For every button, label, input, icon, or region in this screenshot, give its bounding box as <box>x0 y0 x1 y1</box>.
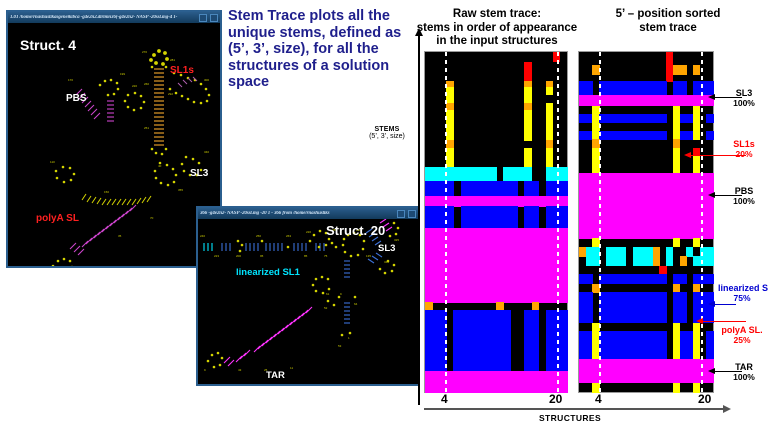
heatmap-cell <box>586 301 593 323</box>
svg-text:251: 251 <box>144 126 149 130</box>
annotation-arrowhead-sl3 <box>708 94 715 100</box>
window-titlebar[interactable]: 1.01 /home/rnashustikasgeneikibca -g4e2n… <box>8 12 220 23</box>
heatmap-cell <box>680 65 687 75</box>
structure-label-sl3: SL3 <box>190 168 208 179</box>
annotation-polya-sl-name: polyA SL. <box>718 325 766 335</box>
structure-marker-4-raw <box>445 52 447 392</box>
svg-text:110: 110 <box>50 160 55 164</box>
annotation-sl3-name: SL3 <box>722 88 766 98</box>
heatmap-cell <box>524 167 532 181</box>
svg-text:170: 170 <box>68 78 73 82</box>
svg-text:220: 220 <box>306 230 311 234</box>
heatmap-cell <box>666 256 673 266</box>
structure-label-sl1s: SL1s <box>170 65 194 76</box>
heatmap-cell <box>560 181 568 197</box>
svg-text:40: 40 <box>158 164 162 168</box>
xtick-raw-20: 20 <box>549 392 562 406</box>
structure-label-sl3-20: SL3 <box>378 243 395 254</box>
heatmap-cell <box>673 238 680 247</box>
svg-text:53: 53 <box>338 344 342 348</box>
svg-text:43: 43 <box>238 368 242 372</box>
annotation-sl1s: SL1s 20% <box>722 139 766 159</box>
svg-text:9: 9 <box>340 292 342 296</box>
structure-label-tar-20: TAR <box>266 370 285 381</box>
annotation-arrowhead-sl1s <box>684 152 691 158</box>
structure-marker-4-sorted <box>599 52 601 392</box>
heatmap-cell <box>524 131 532 140</box>
annotation-tar: TAR 100% <box>722 362 766 382</box>
structures-axis-line <box>424 408 724 410</box>
annotation-arrowhead-pbs <box>708 192 715 198</box>
heatmap-cell <box>560 310 568 331</box>
heatmap-cell <box>706 131 713 140</box>
heatmap-cell <box>510 181 518 197</box>
svg-text:325: 325 <box>394 238 399 242</box>
rna-structure-window-struct20[interactable]: 366 -g4e2n2- NASP -20ssl.mg -20 1 - 366 … <box>196 206 420 386</box>
annotation-leader-polya-sl <box>702 321 746 322</box>
annotation-arrowhead-linearized-sl1 <box>708 301 715 307</box>
stems-axis-title: STEMS <box>356 126 418 133</box>
heatmap-cell <box>503 350 511 371</box>
svg-text:135: 135 <box>366 254 371 258</box>
heatmap-cell <box>586 81 593 95</box>
annotation-linearized-sl1: linearized SL1 75% <box>718 283 766 303</box>
heatmap-cell <box>524 110 532 122</box>
heatmap-cell <box>446 181 454 197</box>
heatmap-cell <box>673 383 680 393</box>
heatmap-cell <box>503 310 511 331</box>
maximize-button[interactable] <box>210 14 218 22</box>
heatmap-cell <box>446 206 454 229</box>
heatmap-raw-stem-trace[interactable] <box>424 51 568 393</box>
structures-axis-label: STRUCTURES <box>480 413 660 423</box>
annotation-sl3: SL3 100% <box>722 88 766 108</box>
heatmap-cell <box>560 330 568 351</box>
heatmap-cell <box>510 206 518 229</box>
heatmap-cell <box>503 330 511 351</box>
heatmap-cell <box>706 114 713 123</box>
structure-caption-4: Struct. 4 <box>20 37 76 53</box>
heatmap-cell <box>680 274 687 284</box>
heatmap-cell <box>659 301 666 323</box>
structure-label-linearized-sl1: linearized SL1 <box>236 267 300 278</box>
svg-text:270: 270 <box>142 50 147 54</box>
svg-text:70: 70 <box>150 216 154 220</box>
svg-text:250: 250 <box>256 234 261 238</box>
heatmap-cell <box>489 167 497 181</box>
annotation-linearized-sl1-pct: 75% <box>718 293 766 303</box>
stems-axis-subtitle: (5’, 3’, size) <box>356 133 418 140</box>
heatmap-cell <box>706 256 713 266</box>
annotation-leader-linearized-sl1 <box>714 304 736 305</box>
heatmap-cell <box>560 228 568 273</box>
annotation-tar-pct: 100% <box>722 372 766 382</box>
svg-text:300: 300 <box>204 78 209 82</box>
heatmap-cell <box>619 256 626 266</box>
heatmap-cell <box>659 131 666 140</box>
heatmap-cell <box>666 52 673 65</box>
svg-text:9: 9 <box>204 368 206 372</box>
heatmap-cell <box>659 81 666 95</box>
structure-label-polya-sl: polyA SL <box>36 213 79 224</box>
minimize-button[interactable] <box>397 210 405 218</box>
window-title-text: 1.01 /home/rnashustikasgeneikibca -g4e2n… <box>10 15 196 20</box>
heatmap-cell <box>706 215 713 239</box>
rna-structure-window-struct4[interactable]: 1.01 /home/rnashustikasgeneikibca -g4e2n… <box>6 10 222 268</box>
heatmap-cell <box>680 301 687 323</box>
xtick-sorted-4: 4 <box>595 392 602 406</box>
minimize-button[interactable] <box>199 14 207 22</box>
panel-heading-sorted-stem-trace: 5’ – position sortedstem trace <box>588 8 748 35</box>
annotation-linearized-sl1-name: linearized SL1 <box>718 283 766 293</box>
svg-text:11: 11 <box>290 366 293 370</box>
svg-text:200: 200 <box>236 254 241 258</box>
svg-text:1: 1 <box>348 336 350 340</box>
svg-text:199: 199 <box>120 72 125 76</box>
annotation-polya-sl: polyA SL. 25% <box>718 325 766 345</box>
svg-text:263: 263 <box>286 234 291 238</box>
structure-marker-20-sorted <box>701 52 703 392</box>
heatmap-cell <box>560 371 568 393</box>
heatmap-sorted-stem-trace[interactable] <box>578 51 714 393</box>
structure-marker-20-raw <box>557 52 559 392</box>
heatmap-cell <box>706 274 713 284</box>
svg-text:340: 340 <box>204 150 209 154</box>
heatmap-cell <box>693 65 700 75</box>
rna-diagram-canvas-struct4[interactable]: 270281260 292251300 170199220 340355110 … <box>8 23 220 266</box>
window-titlebar[interactable]: 366 -g4e2n2- NASP -20ssl.mg -20 1 - 366 … <box>198 208 418 219</box>
svg-text:75: 75 <box>324 254 328 258</box>
svg-text:220: 220 <box>132 84 137 88</box>
svg-text:240: 240 <box>200 234 205 238</box>
annotation-arrowhead-tar <box>708 368 715 374</box>
structure-label-pbs: PBS <box>66 93 87 104</box>
heatmap-cell <box>546 87 554 95</box>
heatmap-cell <box>560 292 568 302</box>
heatmap-cell <box>659 114 666 123</box>
svg-text:35: 35 <box>118 234 122 238</box>
rna-diagram-canvas-struct20[interactable]: 240223200 25026395 8575220 280290135 303… <box>198 219 418 384</box>
stem-trace-description: Stem Trace plots all the unique stems, d… <box>228 8 416 91</box>
stems-axis-arrow <box>418 35 420 405</box>
heatmap-cell <box>560 350 568 371</box>
annotation-sl1s-name: SL1s <box>722 139 766 149</box>
heatmap-cell <box>560 167 568 181</box>
svg-text:95: 95 <box>260 254 264 258</box>
maximize-button[interactable] <box>408 210 416 218</box>
heatmap-cell <box>659 274 666 284</box>
rna-secondary-structure-svg-4: 270281260 292251300 170199220 340355110 … <box>8 23 220 266</box>
panel-heading-raw-stem-trace: Raw stem trace:stems in order of appeara… <box>412 8 582 49</box>
stems-axis-label: STEMS (5’, 3’, size) <box>356 126 418 140</box>
svg-text:355: 355 <box>178 188 183 192</box>
annotation-polya-sl-pct: 25% <box>718 335 766 345</box>
annotation-sl3-pct: 100% <box>722 98 766 108</box>
svg-text:61: 61 <box>326 292 330 296</box>
svg-text:303: 303 <box>376 219 381 220</box>
window-title-text: 366 -g4e2n2- NASP -20ssl.mg -20 1 - 366 … <box>200 211 394 216</box>
heatmap-cell <box>560 206 568 229</box>
heatmap-cell <box>680 256 687 266</box>
heatmap-cell <box>532 310 540 331</box>
svg-text:64: 64 <box>354 302 358 306</box>
xtick-sorted-20: 20 <box>698 392 711 406</box>
structure-caption-20: Struct. 20 <box>326 223 385 238</box>
heatmap-cell <box>680 81 687 95</box>
svg-text:281: 281 <box>170 58 175 62</box>
svg-text:340: 340 <box>384 260 389 264</box>
svg-text:85: 85 <box>304 254 308 258</box>
svg-text:260: 260 <box>144 82 149 86</box>
svg-text:292: 292 <box>168 92 173 96</box>
svg-text:150: 150 <box>104 190 109 194</box>
annotation-pbs-name: PBS <box>722 186 766 196</box>
svg-text:223: 223 <box>214 254 219 258</box>
annotation-arrowhead-polya-sl <box>696 318 703 324</box>
annotation-tar-name: TAR <box>722 362 766 372</box>
heatmap-cell <box>532 181 540 197</box>
annotation-pbs: PBS 100% <box>722 186 766 206</box>
annotation-pbs-pct: 100% <box>722 196 766 206</box>
heatmap-cell <box>532 206 540 229</box>
heatmap-cell <box>446 110 454 122</box>
heatmap-cell <box>532 330 540 351</box>
annotation-sl1s-pct: 20% <box>722 149 766 159</box>
heatmap-cell <box>546 110 554 122</box>
heatmap-cell <box>532 350 540 371</box>
xtick-raw-4: 4 <box>441 392 448 406</box>
svg-text:52: 52 <box>324 306 328 310</box>
heatmap-cell <box>693 131 700 140</box>
